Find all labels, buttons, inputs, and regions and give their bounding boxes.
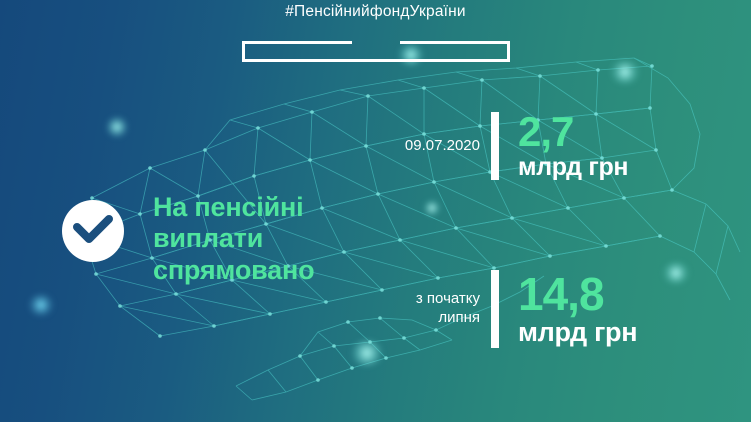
stat-unit-daily: млрд грн (518, 154, 628, 180)
frame-top-left-segment (242, 41, 352, 44)
frame-top-right-segment (400, 41, 510, 44)
stat-divider-bar (491, 270, 499, 348)
stat-value-month: 14,8 (518, 272, 637, 316)
check-icon (73, 215, 113, 247)
stat-label-period: з початку липня (300, 290, 491, 328)
stat-value-daily: 2,7 (518, 112, 628, 152)
stat-unit-month: млрд грн (518, 318, 637, 346)
headline-text: На пенсійні виплати спрямовано (153, 192, 314, 286)
decorative-frame (242, 41, 510, 62)
headline-block: На пенсійні виплати спрямовано (62, 192, 314, 286)
frame-bottom-edge (242, 59, 510, 62)
hashtag-text: #ПенсійнийфондУкраїни (0, 3, 751, 21)
stat-row-month: з початку липня 14,8 млрд грн (300, 270, 637, 348)
stat-label-date: 09.07.2020 (300, 137, 491, 156)
check-badge (62, 200, 124, 262)
infographic-poster: #ПенсійнийфондУкраїни На пенсійні виплат… (0, 0, 751, 422)
stat-divider-bar (491, 112, 499, 180)
stat-values: 2,7 млрд грн (518, 112, 628, 181)
stat-row-daily: 09.07.2020 2,7 млрд грн (300, 112, 628, 181)
stat-values: 14,8 млрд грн (518, 272, 637, 347)
